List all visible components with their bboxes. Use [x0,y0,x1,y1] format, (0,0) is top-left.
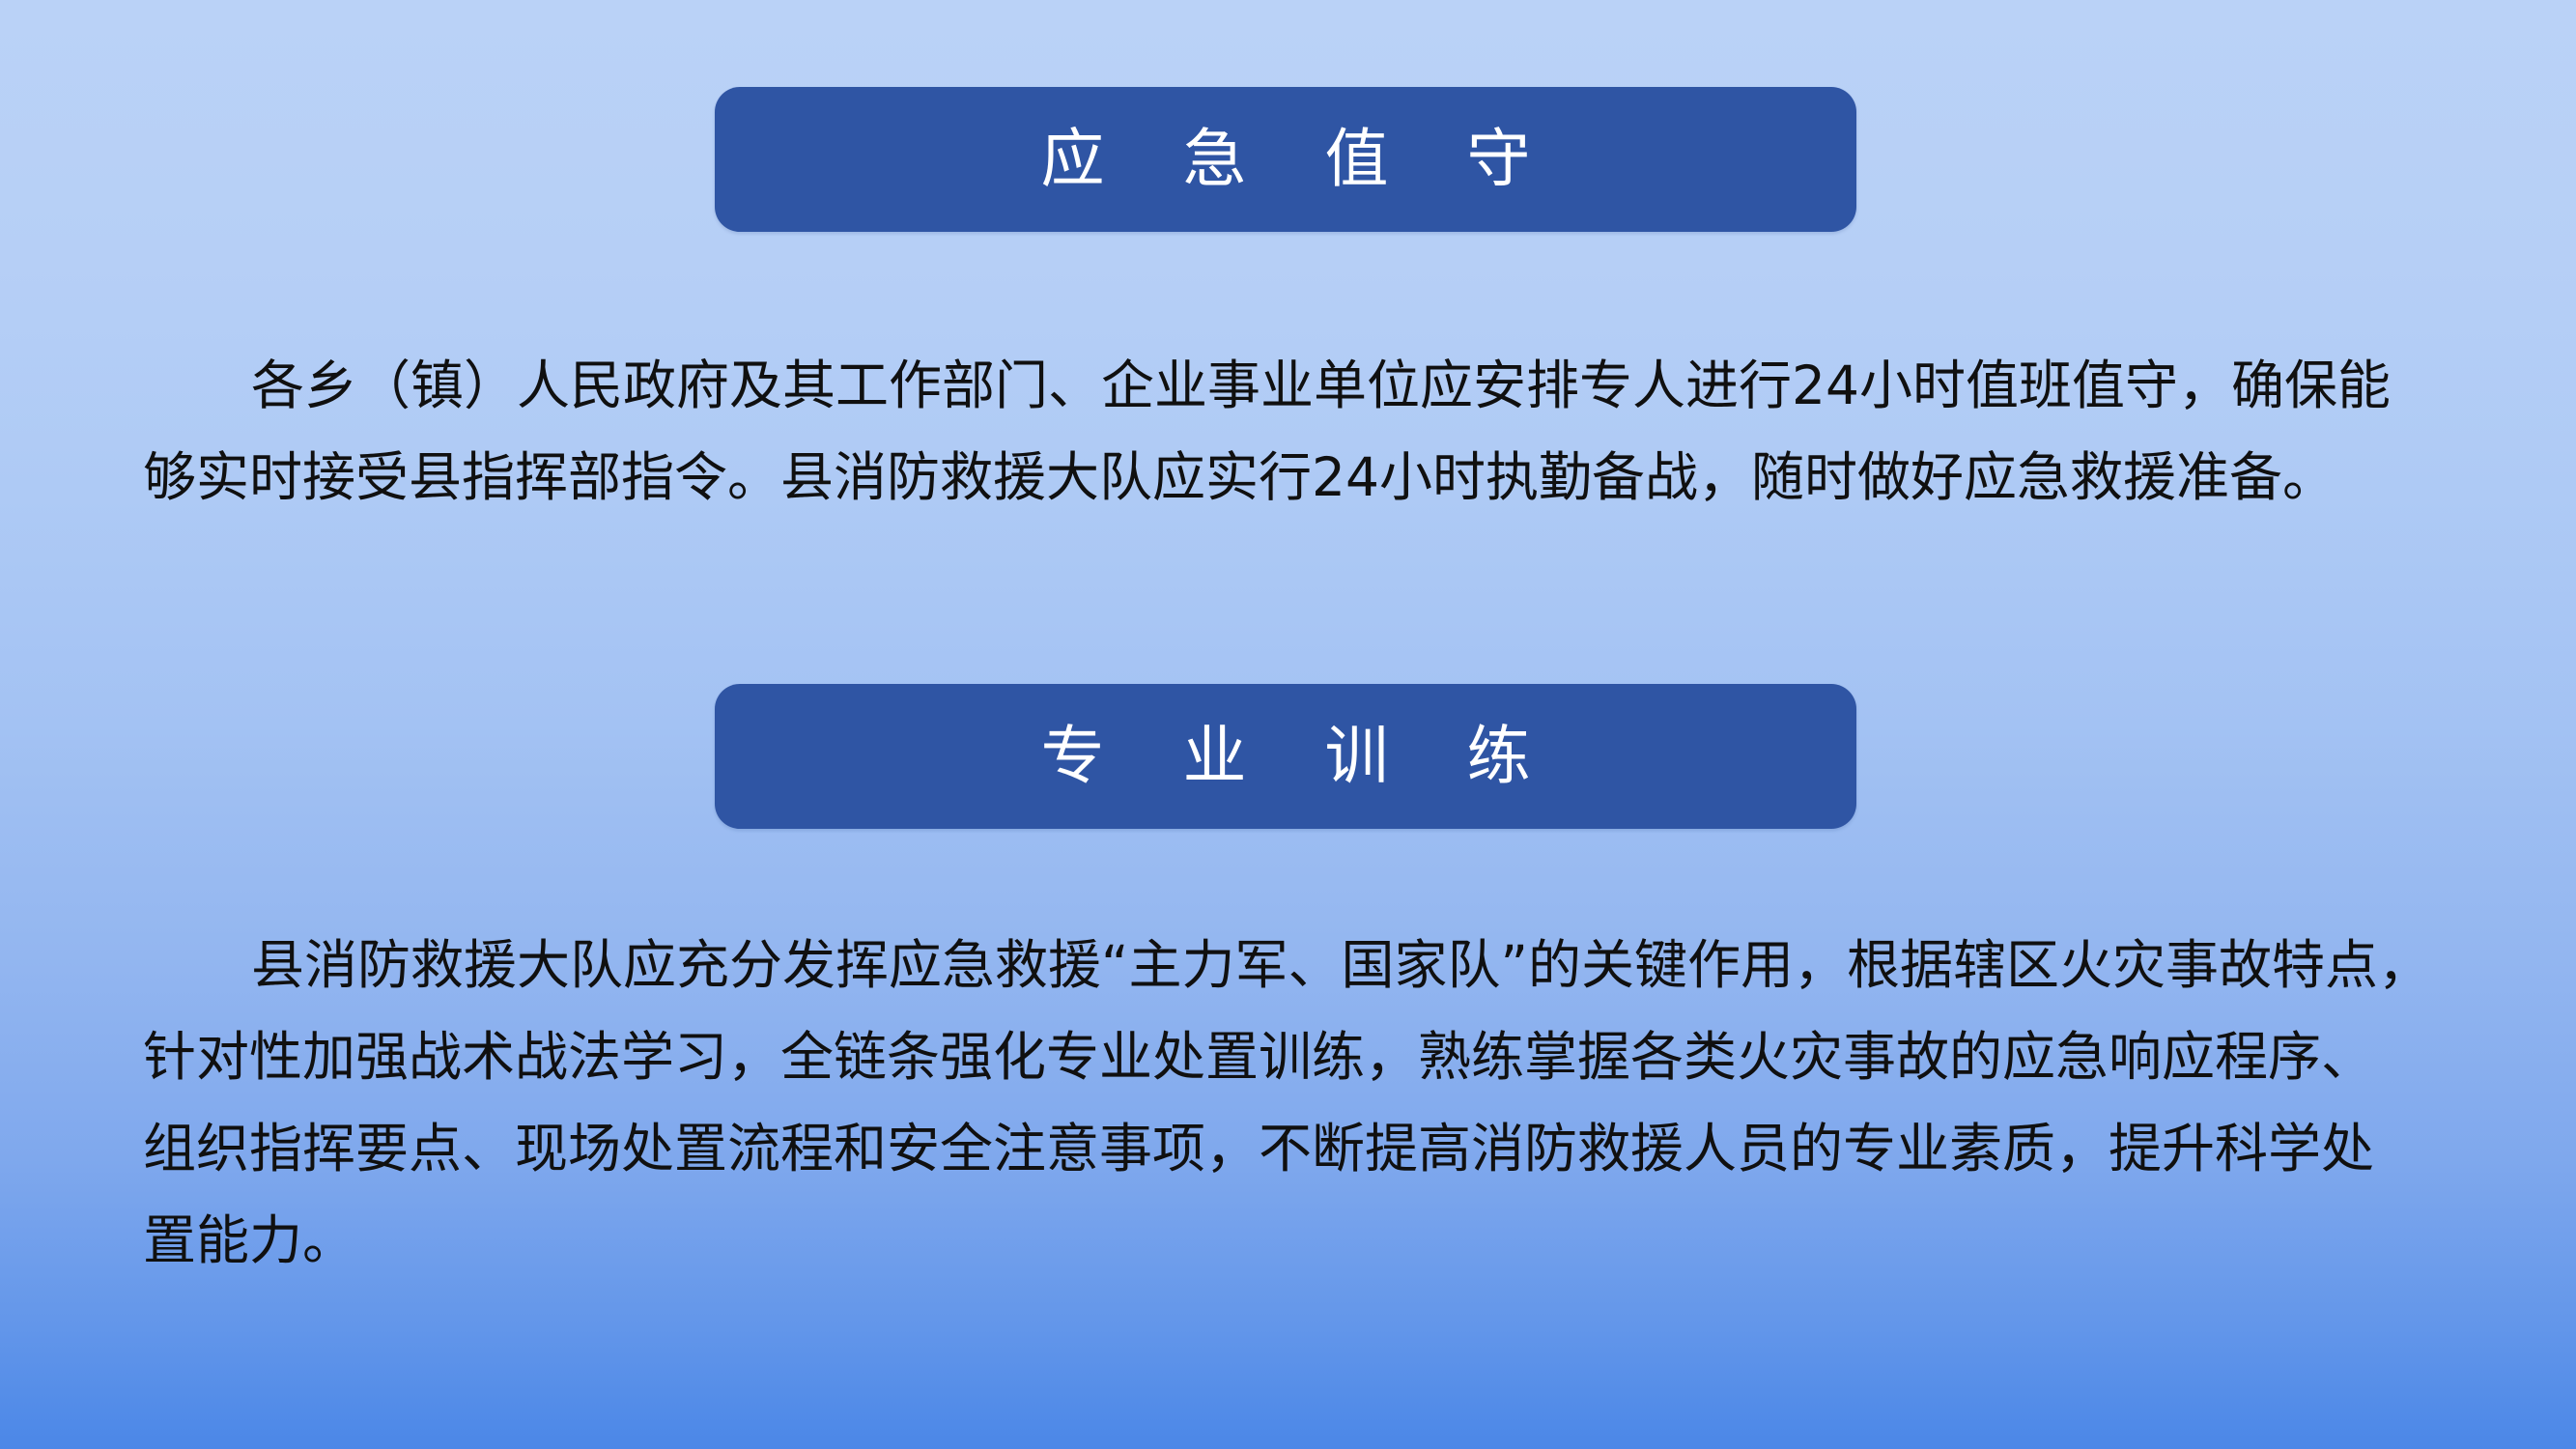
section-banner-title-training: 专 业 训 练 [1012,724,1560,788]
section-banner-title-emergency: 应 急 值 守 [1012,128,1560,191]
section-paragraph-emergency: 各乡（镇）人民政府及其工作部门、企业事业单位应安排专人进行24小时值班值守，确保… [143,340,2442,524]
paragraph-line: 组织指挥要点、现场处置流程和安全注意事项，不断提高消防救援人员的专业素质，提升科… [143,1103,2442,1195]
section-banner-emergency: 应 急 值 守 [715,87,1856,232]
paragraph-line: 针对性加强战术战法学习，全链条强化专业处置训练，熟练掌握各类火灾事故的应急响应程… [143,1011,2442,1103]
paragraph-line: 置能力。 [143,1195,2442,1287]
section-banner-training: 专 业 训 练 [715,684,1856,829]
paragraph-line: 县消防救援大队应充分发挥应急救援“主力军、国家队”的关键作用，根据辖区火灾事故特… [143,920,2442,1011]
section-paragraph-training: 县消防救援大队应充分发挥应急救援“主力军、国家队”的关键作用，根据辖区火灾事故特… [143,920,2442,1287]
paragraph-line: 够实时接受县指挥部指令。县消防救援大队应实行24小时执勤备战，随时做好应急救援准… [143,432,2442,524]
slide-canvas: 应 急 值 守 各乡（镇）人民政府及其工作部门、企业事业单位应安排专人进行24小… [0,0,2576,1449]
paragraph-line: 各乡（镇）人民政府及其工作部门、企业事业单位应安排专人进行24小时值班值守，确保… [143,340,2442,432]
